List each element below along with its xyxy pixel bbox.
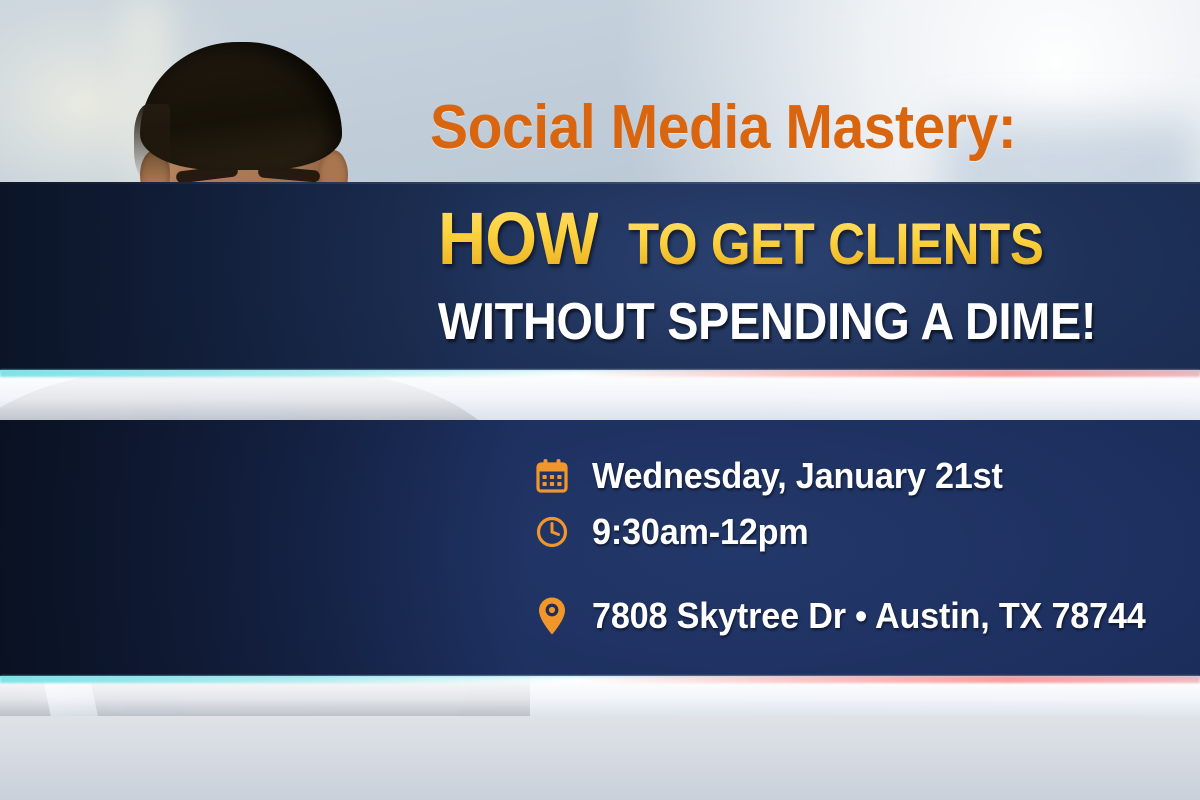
event-flyer: Social Media Mastery: HOW TO GET CLIENTS… (0, 0, 1200, 800)
light-streak-top (0, 370, 1200, 422)
detail-text-time: 9:30am-12pm (592, 511, 809, 553)
clock-icon (532, 511, 572, 553)
detail-text-location: 7808 Skytree Dr • Austin, TX 78744 (592, 595, 1146, 637)
headline-emphasis: HOW (438, 196, 598, 281)
detail-text-date: Wednesday, January 21st (592, 455, 1003, 497)
headline-line-1: HOW TO GET CLIENTS (438, 196, 1198, 276)
map-pin-icon (532, 595, 572, 637)
page-title: Social Media Mastery: (430, 92, 1129, 163)
hair (140, 42, 342, 170)
event-details-list: Wednesday, January 21st 9:30am-12pm (532, 448, 1192, 644)
headline-line-2: WITHOUT SPENDING A DIME! (438, 292, 1122, 352)
detail-row-location: 7808 Skytree Dr • Austin, TX 78744 (532, 588, 1192, 644)
light-streak-bottom (0, 676, 1200, 716)
calendar-icon (532, 455, 572, 497)
detail-row-time: 9:30am-12pm (532, 504, 1192, 560)
headline-rest: TO GET CLIENTS (628, 211, 1043, 278)
detail-row-date: Wednesday, January 21st (532, 448, 1192, 504)
bottom-background (0, 716, 1200, 800)
